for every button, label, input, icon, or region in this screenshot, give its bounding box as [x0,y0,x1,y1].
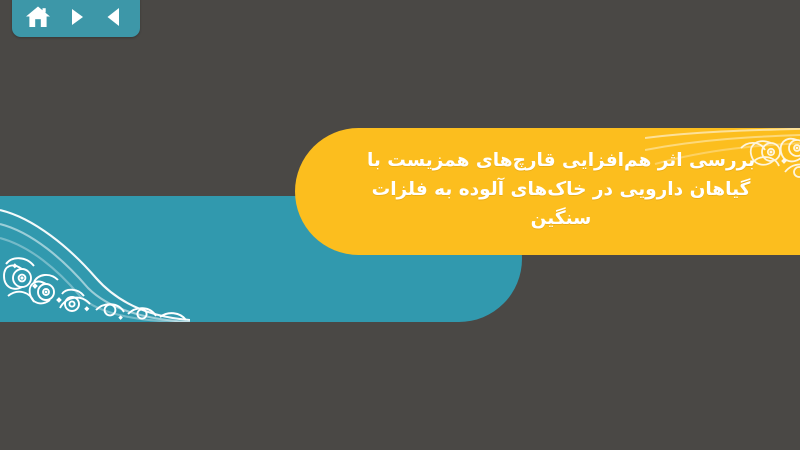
back-icon [103,6,125,28]
forward-icon [65,6,87,28]
page-title: بررسی اثر هم‌افزایی قارچ‌های همزیست با گ… [295,128,800,255]
title-band: بررسی اثر هم‌افزایی قارچ‌های همزیست با گ… [295,128,800,255]
title-line-1: بررسی اثر هم‌افزایی قارچ‌های همزیست با [367,147,755,176]
forward-button[interactable] [61,3,91,31]
back-button[interactable] [99,3,129,31]
home-icon [25,5,51,29]
title-line-2: گیاهان دارویی در خاک‌های آلوده به فلزات [372,176,751,205]
teal-arabesque-ornament [0,204,190,322]
title-line-3: سنگین [531,205,592,234]
presentation-slide: بررسی اثر هم‌افزایی قارچ‌های همزیست با گ… [0,0,800,450]
navigation-bar [12,0,140,37]
home-button[interactable] [23,3,53,31]
